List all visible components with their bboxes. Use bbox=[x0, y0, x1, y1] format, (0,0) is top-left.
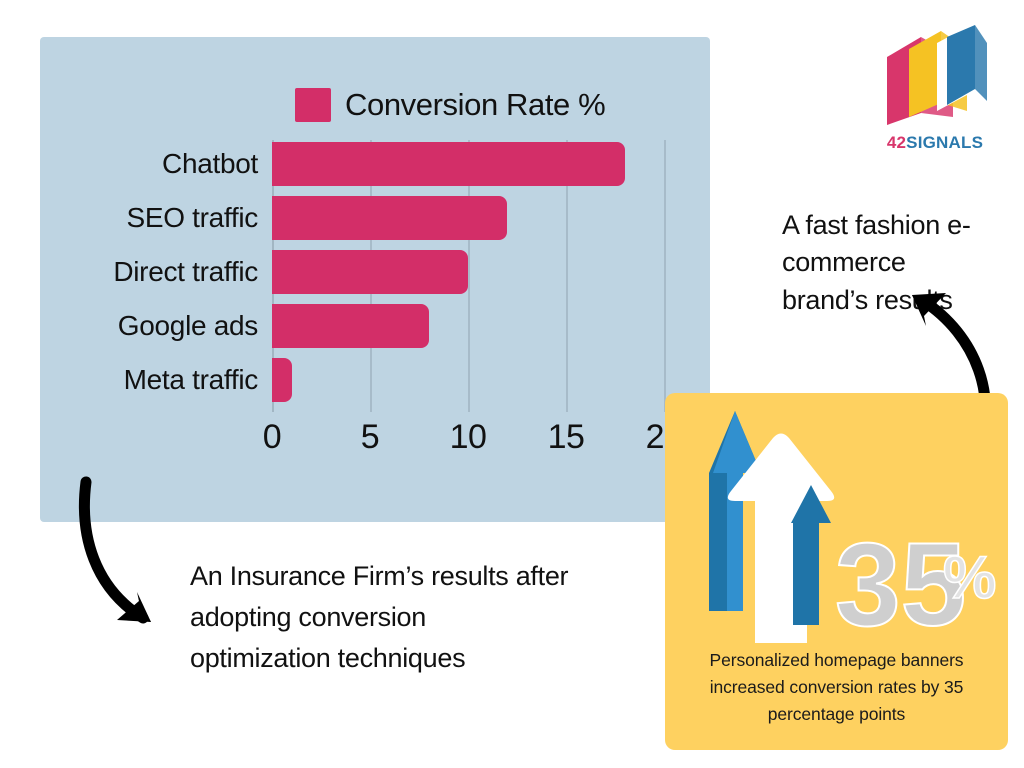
bar-rows: Chatbot SEO traffic Direct traffic Googl… bbox=[272, 140, 664, 412]
x-tick-label: 10 bbox=[450, 418, 487, 457]
bar-value bbox=[272, 142, 625, 186]
x-tick-label: 0 bbox=[263, 418, 281, 457]
bar-value bbox=[272, 196, 507, 240]
logo-wordmark: 42SIGNALS bbox=[875, 133, 995, 153]
x-tick-label: 5 bbox=[361, 418, 379, 457]
bar-value bbox=[272, 358, 292, 402]
bar-category-label: Chatbot bbox=[162, 142, 258, 186]
bar-row: Chatbot bbox=[272, 142, 664, 186]
bar-category-label: Google ads bbox=[118, 304, 258, 348]
bar-row: Meta traffic bbox=[272, 358, 664, 402]
bar-value bbox=[272, 250, 468, 294]
legend-swatch-icon bbox=[295, 88, 331, 122]
brand-logo: 42SIGNALS bbox=[875, 25, 995, 165]
yellow-stat-card: 35 % Personalized homepage banners incre… bbox=[665, 393, 1008, 750]
bar-category-label: Meta traffic bbox=[124, 358, 258, 402]
card-caption: Personalized homepage banners increased … bbox=[679, 647, 994, 728]
logo-text-signals: SIGNALS bbox=[906, 133, 983, 152]
chart-legend: Conversion Rate % bbox=[295, 87, 605, 123]
bar-category-label: SEO traffic bbox=[126, 196, 258, 240]
bar-value bbox=[272, 304, 429, 348]
curved-arrow-down-right-icon bbox=[55, 470, 205, 640]
hexagon-cube-icon bbox=[875, 25, 995, 135]
bar-row: Direct traffic bbox=[272, 250, 664, 294]
gridline-20 bbox=[664, 140, 666, 412]
bar-category-label: Direct traffic bbox=[113, 250, 258, 294]
chart-plot-area: Chatbot SEO traffic Direct traffic Googl… bbox=[272, 140, 664, 412]
chart-panel: Conversion Rate % Chatbot SEO traffic Di… bbox=[40, 37, 710, 522]
x-tick-label: 15 bbox=[548, 418, 585, 457]
bar-row: Google ads bbox=[272, 304, 664, 348]
legend-label: Conversion Rate % bbox=[345, 87, 605, 123]
x-axis-ticks: 0 5 10 15 20 bbox=[272, 418, 664, 462]
callout-left-text: An Insurance Firm’s results after adopti… bbox=[190, 556, 570, 679]
card-headline-unit: % bbox=[943, 544, 996, 611]
bar-row: SEO traffic bbox=[272, 196, 664, 240]
arrow-left bbox=[55, 470, 205, 640]
logo-text-42: 42 bbox=[887, 133, 906, 152]
upward-arrows-icon: 35 % bbox=[665, 393, 1008, 663]
